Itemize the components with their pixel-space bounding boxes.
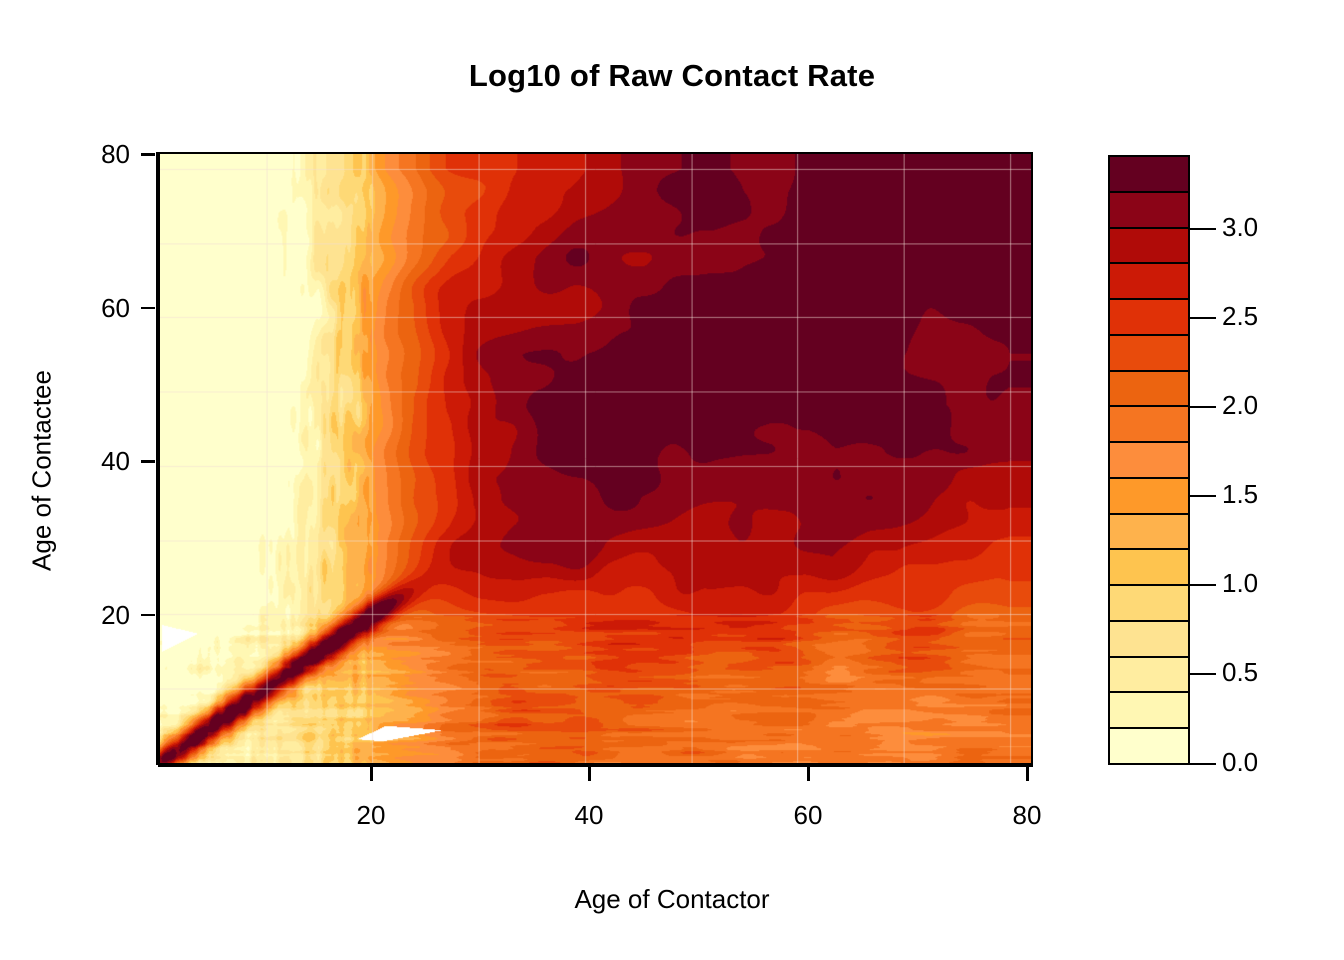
y-axis-line — [156, 152, 159, 765]
colorbar-band-16 — [1110, 157, 1188, 193]
x-tick-60 — [807, 767, 810, 781]
y-tick-label-40: 40 — [60, 446, 130, 477]
y-tick-40 — [141, 460, 155, 463]
colorbar-tick-0-5 — [1190, 673, 1216, 676]
colorbar-band-3 — [1110, 622, 1188, 658]
heatmap-plot-area — [158, 152, 1033, 765]
colorbar-band-12 — [1110, 300, 1188, 336]
colorbar-label-0-0: 0.0 — [1222, 747, 1258, 778]
colorbar-band-7 — [1110, 479, 1188, 515]
x-tick-80 — [1026, 767, 1029, 781]
y-tick-label-60: 60 — [60, 293, 130, 324]
colorbar — [1108, 155, 1190, 765]
colorbar-band-11 — [1110, 336, 1188, 372]
colorbar-band-1 — [1110, 693, 1188, 729]
y-axis-title: Age of Contactee — [27, 311, 58, 631]
colorbar-band-13 — [1110, 264, 1188, 300]
x-axis-line — [158, 765, 1033, 768]
x-tick-label-80: 80 — [987, 800, 1067, 831]
colorbar-label-1-5: 1.5 — [1222, 479, 1258, 510]
colorbar-band-0 — [1110, 729, 1188, 763]
colorbar-band-10 — [1110, 372, 1188, 408]
heatmap-canvas — [160, 154, 1031, 763]
y-tick-20 — [141, 614, 155, 617]
colorbar-band-9 — [1110, 407, 1188, 443]
x-tick-label-60: 60 — [768, 800, 848, 831]
colorbar-band-4 — [1110, 586, 1188, 622]
x-tick-label-40: 40 — [549, 800, 629, 831]
colorbar-tick-0-0 — [1190, 763, 1216, 766]
x-tick-20 — [370, 767, 373, 781]
colorbar-label-2-0: 2.0 — [1222, 390, 1258, 421]
colorbar-label-0-5: 0.5 — [1222, 657, 1258, 688]
colorbar-tick-1-5 — [1190, 495, 1216, 498]
y-tick-60 — [141, 307, 155, 310]
colorbar-tick-2-5 — [1190, 317, 1216, 320]
colorbar-tick-1-0 — [1190, 584, 1216, 587]
colorbar-label-3-0: 3.0 — [1222, 212, 1258, 243]
colorbar-band-14 — [1110, 229, 1188, 265]
y-tick-label-80: 80 — [60, 139, 130, 170]
y-tick-80 — [141, 153, 155, 156]
colorbar-band-8 — [1110, 443, 1188, 479]
x-tick-label-20: 20 — [331, 800, 411, 831]
x-axis-title: Age of Contactor — [0, 884, 1344, 915]
colorbar-tick-2-0 — [1190, 406, 1216, 409]
colorbar-label-2-5: 2.5 — [1222, 301, 1258, 332]
colorbar-label-1-0: 1.0 — [1222, 568, 1258, 599]
colorbar-band-6 — [1110, 515, 1188, 551]
y-tick-label-20: 20 — [60, 600, 130, 631]
colorbar-tick-3-0 — [1190, 228, 1216, 231]
page-title: Log10 of Raw Contact Rate — [0, 58, 1344, 94]
colorbar-band-15 — [1110, 193, 1188, 229]
colorbar-band-5 — [1110, 550, 1188, 586]
colorbar-band-2 — [1110, 658, 1188, 694]
x-tick-40 — [588, 767, 591, 781]
